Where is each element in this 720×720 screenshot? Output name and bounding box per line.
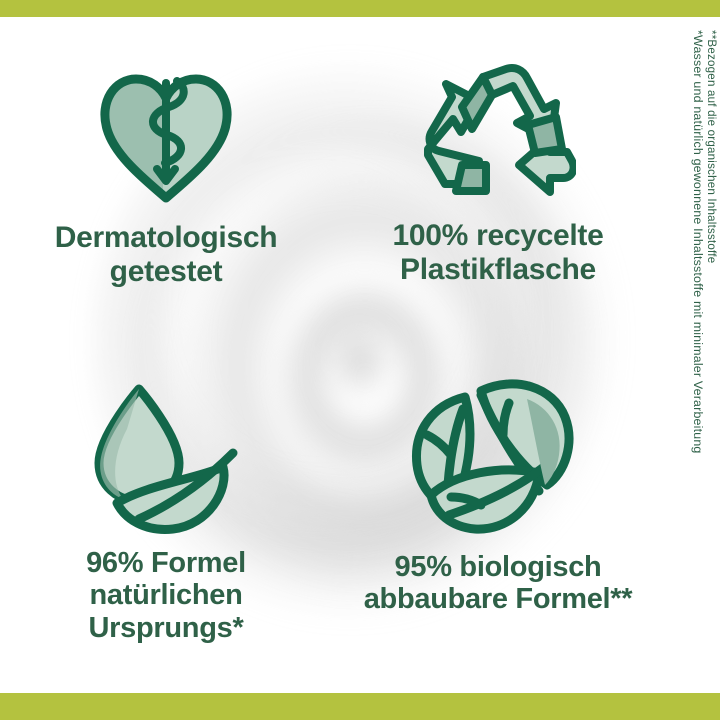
feature-formel-natuerlichen-ursprungs: 96% Formel natürlichen Ursprungs* <box>0 355 332 693</box>
caption-line: Ursprungs* <box>86 612 246 644</box>
caption-line: abbaubare Formel** <box>364 583 633 615</box>
footnote-primary: *Wasser und natürlich gewonnene Inhaltss… <box>690 30 704 454</box>
feature-caption: Dermatologisch getestet <box>55 221 278 288</box>
heart-with-rod-of-asclepius-icon <box>91 57 241 209</box>
caption-line: getestet <box>55 255 278 289</box>
eco-claims-poster: Dermatologisch getestet <box>0 0 720 720</box>
caption-line: natürlichen <box>86 579 246 611</box>
recycling-arrows-icon <box>420 57 576 207</box>
caption-line: Plastikflasche <box>393 253 604 287</box>
caption-line: 100% recycelte <box>393 219 604 253</box>
bottom-olive-bar <box>0 693 720 720</box>
top-olive-bar <box>0 0 720 17</box>
feature-caption: 96% Formel natürlichen Ursprungs* <box>86 547 246 644</box>
water-droplet-and-leaf-icon <box>77 377 255 535</box>
footnote-secondary: **Bezogen auf die organischen Inhaltssto… <box>705 30 718 263</box>
feature-grid: Dermatologisch getestet <box>0 17 664 693</box>
feature-recycelte-plastikflasche: 100% recycelte Plastikflasche <box>332 17 664 355</box>
feature-biologisch-abbaubare-formel: 95% biologisch abbaubare Formel** <box>332 355 664 693</box>
footnote-block: *Wasser und natürlich gewonnene Inhaltss… <box>690 30 718 454</box>
caption-line: Dermatologisch <box>55 221 278 255</box>
three-leaves-biodegradable-icon <box>407 369 589 539</box>
feature-caption: 95% biologisch abbaubare Formel** <box>364 551 633 616</box>
caption-line: 96% Formel <box>86 547 246 579</box>
feature-dermatologisch-getestet: Dermatologisch getestet <box>0 17 332 355</box>
caption-line: 95% biologisch <box>364 551 633 583</box>
feature-caption: 100% recycelte Plastikflasche <box>393 219 604 286</box>
